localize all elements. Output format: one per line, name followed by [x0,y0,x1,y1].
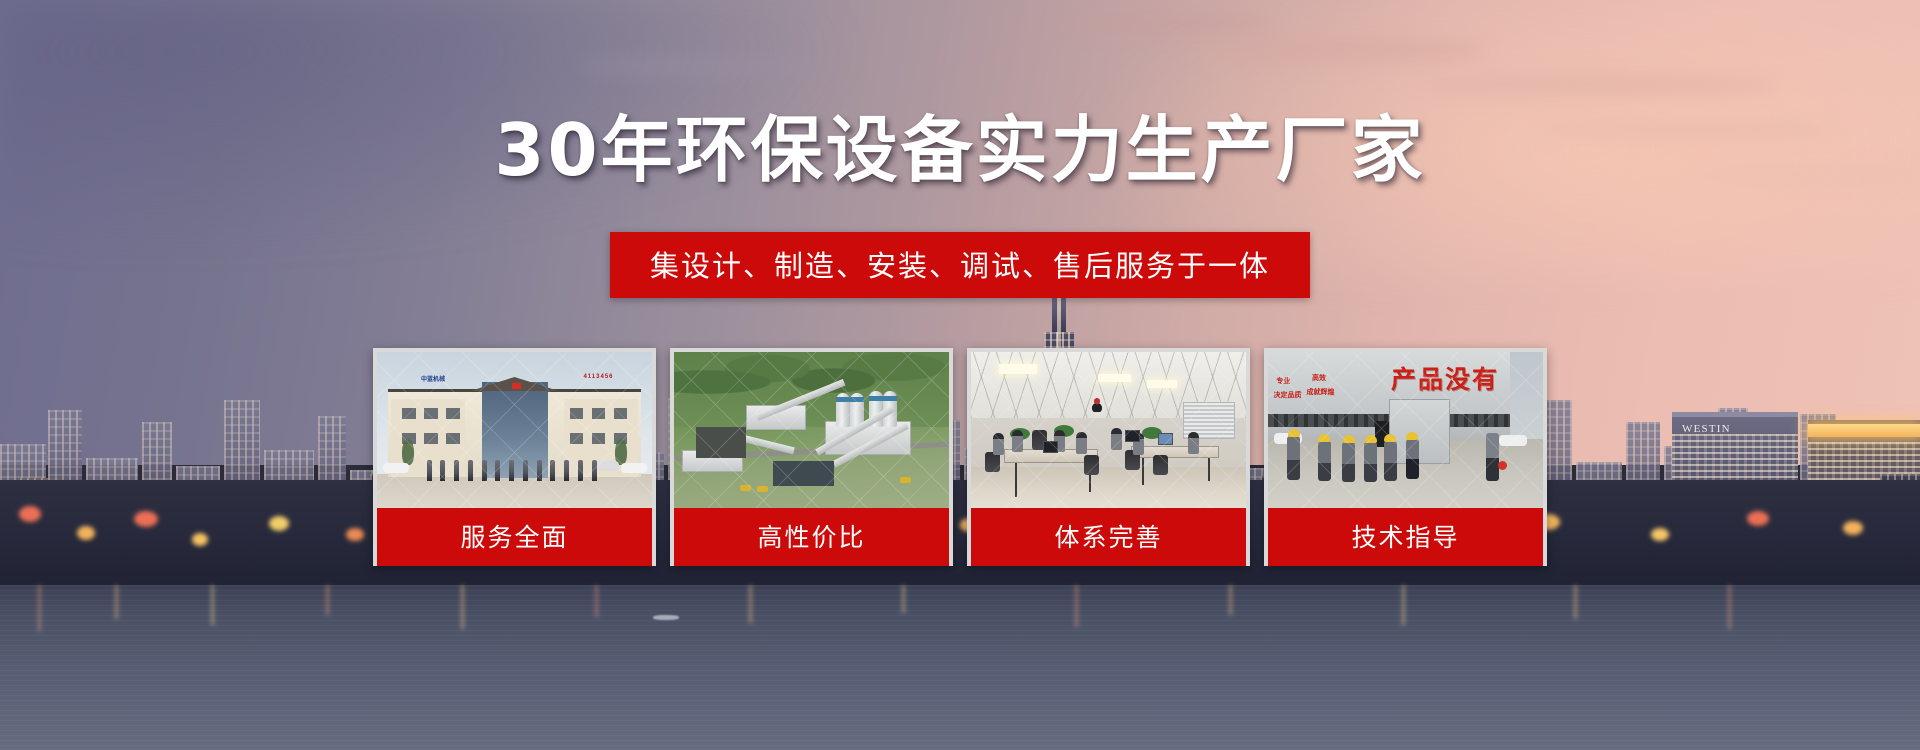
supervisor [1486,433,1499,481]
feature-card[interactable]: 高性价比 [670,348,953,566]
card-caption: 技术指导 [1268,508,1543,566]
covered-shed [773,461,834,486]
worker [1342,442,1355,482]
window [570,408,584,419]
staff-person [454,460,459,481]
window [446,433,460,444]
employee [993,433,1004,455]
photo-ground [377,474,652,508]
feature-card-list: 中蓝机械 4113456 [0,348,1920,566]
water-reflection [902,585,905,613]
computer-monitor [1043,441,1058,453]
factory-slogan-large: 产品没有 [1391,360,1499,396]
factory-slogan-small: 成就辉煌 [1307,388,1335,397]
company-name-sign: 中蓝机械 [421,374,445,383]
window [570,433,584,444]
window [592,408,606,419]
forested-hills [674,352,949,427]
factory-slogan-small: 专业 [1276,377,1290,386]
safety-helmet-icon [1343,435,1355,443]
water-reflection [1402,585,1405,625]
feature-card[interactable]: 产品没有 专业 决定品质 高效 成就辉煌 [1264,348,1547,566]
factory-roller-door [1389,399,1450,465]
worker [1384,441,1397,481]
worker [1287,436,1300,480]
factory-slogan-small: 决定品质 [1274,391,1302,400]
parked-car [1499,435,1527,446]
card-photo-factory-workers: 产品没有 专业 决定品质 高效 成就辉煌 [1268,352,1543,508]
safety-helmet-icon [1318,434,1330,442]
employee [1188,432,1199,454]
employee [1111,428,1122,450]
staff-person [468,460,473,481]
employee [1012,430,1023,452]
water-reflection [749,585,752,623]
river-water [0,585,1920,750]
cloud [1056,14,1276,32]
staff-person [440,460,445,481]
page-title: 30年环保设备实力生产厂家 [494,112,1425,190]
safety-helmet-icon [1365,435,1377,443]
tree [402,439,414,465]
water-reflection [115,585,118,619]
safety-helmet-icon [1288,429,1300,437]
water-reflection [461,585,464,629]
card-photo-industrial-plant [674,352,949,508]
card-caption: 高性价比 [674,508,949,566]
small-boat [653,615,679,620]
staff-person [537,460,542,481]
ceiling-light-panel [1098,374,1131,382]
window [614,408,628,419]
water-reflection [211,585,214,625]
ceiling-light-panel [1147,380,1177,388]
water-reflection [595,585,598,617]
staff-person [578,460,583,481]
ceiling-light-panel [999,364,1038,373]
staff-person [427,460,432,481]
office-chair [1153,455,1168,475]
window [424,433,438,444]
staff-person [523,460,528,481]
headline-container: 30年环保设备实力生产厂家 [0,112,1920,190]
slogan-line: 决定品质 [1274,391,1302,399]
staff-person [550,460,555,481]
employee [1076,432,1087,454]
card-caption: 体系完善 [971,508,1246,566]
window [424,408,438,419]
factory-slogan-small: 高效 [1312,374,1326,383]
water-reflection [1075,585,1078,627]
parked-car [621,463,647,473]
feature-card[interactable]: 中蓝机械 4113456 [373,348,656,566]
staff-person [482,460,487,481]
wall-logo [1084,394,1110,412]
water-reflection [38,585,41,631]
phone-number-sign: 4113456 [583,374,613,380]
card-caption: 服务全面 [377,508,652,566]
water-reflection [1728,585,1731,629]
window [402,408,416,419]
feature-card[interactable]: 体系完善 [967,348,1250,566]
subtitle-badge: 集设计、制造、安装、调试、售后服务于一体 [610,232,1310,298]
parked-car [593,461,619,471]
flag-icon [512,383,521,389]
construction-vehicle [740,485,751,491]
staff-person [564,460,569,481]
desk-leg [1142,458,1144,485]
construction-vehicle [900,477,911,483]
slogan-line: 高效 [1312,374,1326,382]
processing-unit [696,427,746,458]
desk-leg [1015,463,1017,497]
slogan-line: 成就辉煌 [1307,388,1335,396]
hero-banner: WESTIN [0,0,1920,750]
cloud [576,56,836,76]
staff-person [495,460,500,481]
computer-monitor [1158,433,1173,445]
computer-monitor [1125,430,1140,442]
parked-car [383,463,409,473]
window [446,408,460,419]
worker [1406,439,1419,479]
staff-person [592,460,597,481]
water-reflection [1574,585,1577,619]
office-chair [1084,455,1099,475]
window [592,433,606,444]
storage-silo [836,393,850,427]
safety-helmet-icon [1406,432,1418,440]
water-reflection [326,585,329,615]
office-floor [971,467,1246,508]
slogan-line: 专业 [1276,377,1290,385]
card-photo-company-building: 中蓝机械 4113456 [377,352,652,508]
worker [1364,442,1377,482]
worker [1318,441,1331,481]
water-reflection [1229,585,1232,615]
card-photo-office-interior [971,352,1246,508]
desk-leg [1208,458,1210,481]
construction-vehicle [757,486,768,492]
safety-helmet-icon [1384,434,1396,442]
staff-person [509,460,514,481]
subtitle-container: 集设计、制造、安装、调试、售后服务于一体 [0,232,1920,298]
